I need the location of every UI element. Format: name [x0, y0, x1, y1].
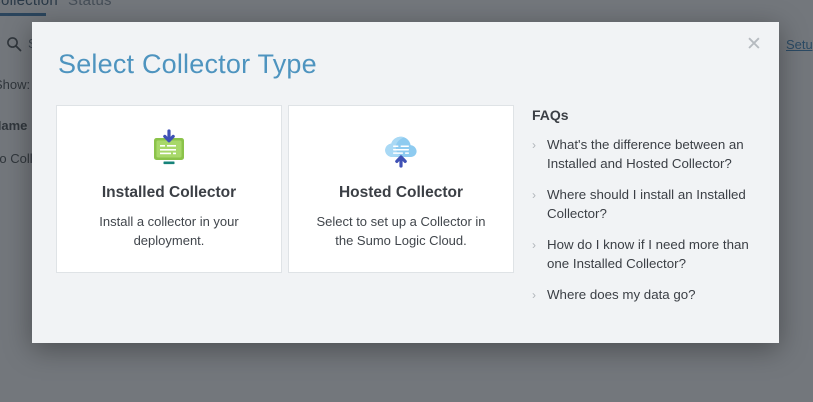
faqs-section: FAQs › What's the difference between an …	[532, 107, 764, 318]
faq-item-label: Where does my data go?	[547, 287, 696, 302]
installed-collector-monitor-icon	[148, 128, 190, 172]
card-title: Hosted Collector	[339, 184, 463, 202]
faq-item[interactable]: › How do I know if I need more than one …	[532, 236, 764, 273]
select-collector-type-dialog: ✕ Select Collector Type	[32, 22, 779, 343]
chevron-right-icon: ›	[532, 136, 536, 155]
chevron-right-icon: ›	[532, 286, 536, 305]
faq-item-label: Where should I install an Installed Coll…	[547, 187, 746, 221]
card-description: Install a collector in your deployment.	[79, 212, 259, 250]
faq-item[interactable]: › Where does my data go?	[532, 286, 764, 305]
faq-item[interactable]: › What's the difference between an Insta…	[532, 136, 764, 173]
faq-item-label: How do I know if I need more than one In…	[547, 237, 749, 271]
faqs-heading: FAQs	[532, 107, 764, 123]
collector-type-cards: Installed Collector Install a collector …	[56, 105, 516, 273]
hosted-collector-cloud-icon	[380, 128, 422, 172]
card-installed-collector[interactable]: Installed Collector Install a collector …	[56, 105, 282, 273]
chevron-right-icon: ›	[532, 236, 536, 255]
close-icon[interactable]: ✕	[743, 34, 765, 56]
dialog-body: Installed Collector Install a collector …	[32, 105, 779, 343]
card-description: Select to set up a Collector in the Sumo…	[311, 212, 491, 250]
card-title: Installed Collector	[102, 184, 236, 202]
chevron-right-icon: ›	[532, 186, 536, 205]
faq-item-label: What's the difference between an Install…	[547, 137, 744, 171]
card-hosted-collector[interactable]: Hosted Collector Select to set up a Coll…	[288, 105, 514, 273]
screen: Collection Status Search Show: All Name …	[0, 0, 813, 402]
dialog-title: Select Collector Type	[58, 49, 317, 80]
faq-item[interactable]: › Where should I install an Installed Co…	[532, 186, 764, 223]
